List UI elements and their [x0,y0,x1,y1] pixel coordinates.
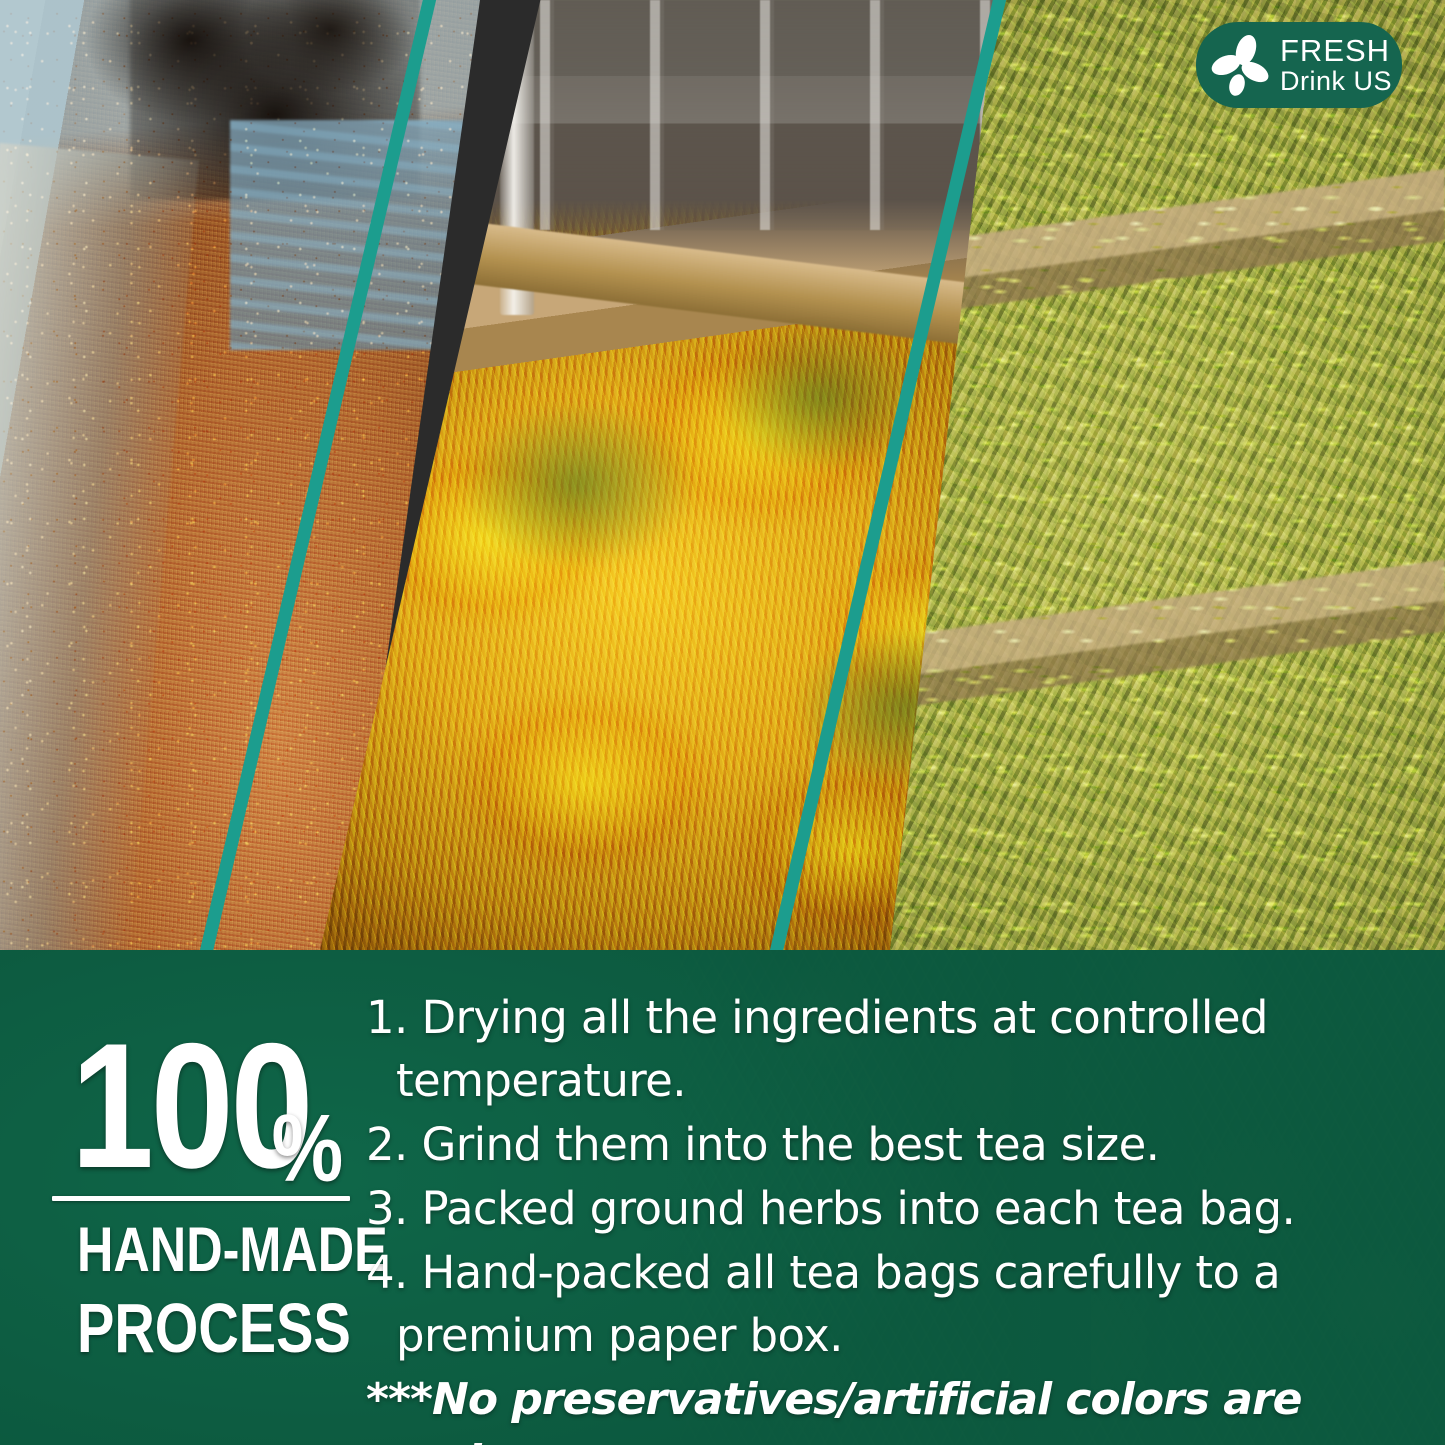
percent-value: 100% [71,1030,331,1182]
process-step: 4. Hand-packed all tea bags carefully to… [366,1241,1428,1367]
logo-line-fresh: FRESH [1280,35,1392,66]
product-infographic: FRESH Drink US 100% HAND-MADE PROCESS 1.… [0,0,1445,1445]
process-step: 2. Grind them into the best tea size. [366,1113,1428,1176]
no-preservatives-note: ***No preservatives/artificial colors ar… [366,1369,1428,1445]
photo-strip [0,0,1445,950]
percent-sign: % [272,1073,342,1225]
process-step: 1. Drying all the ingredients at control… [366,986,1428,1112]
hand-made-process-badge: 100% HAND-MADE PROCESS [46,1030,356,1367]
badge-line-process: PROCESS [77,1289,325,1367]
logo-line-drink-us: Drink US [1280,68,1392,95]
logo-wordmark: FRESH Drink US [1280,35,1392,95]
fresh-drink-us-logo[interactable]: FRESH Drink US [1196,22,1402,108]
process-step: 3. Packed ground herbs into each tea bag… [366,1177,1428,1240]
badge-line-hand-made: HAND-MADE [77,1215,325,1285]
turmeric-green-tuft [457,399,697,569]
leaf-cluster-icon [1210,34,1274,96]
process-steps-list: 1. Drying all the ingredients at control… [366,986,1428,1445]
